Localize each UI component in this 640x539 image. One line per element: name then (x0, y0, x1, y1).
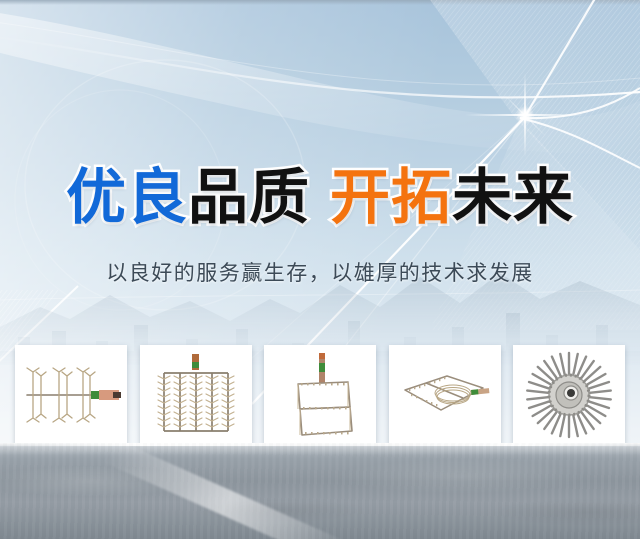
product-card-frame-heating-element[interactable] (264, 345, 376, 445)
product-card-radial-fan-heating-element[interactable] (513, 345, 625, 445)
comb-heating-element-icon (154, 352, 238, 438)
product-card-comb-heating-element[interactable] (140, 345, 252, 445)
headline: 优良品质开拓未来 (0, 163, 640, 233)
headline-part-4: 未来 (452, 163, 574, 233)
headline-part-1: 优良 (66, 163, 188, 233)
headline-part-2: 品质 (188, 163, 310, 233)
ground-texture (0, 443, 640, 539)
product-card-branched-heating-element[interactable] (15, 345, 127, 445)
product-card-strip (15, 345, 625, 445)
radial-fan-heating-element-icon (525, 351, 613, 439)
coil-panel-heating-element-icon (395, 360, 495, 430)
ground-pavement (0, 443, 640, 539)
frame-heating-element-icon (278, 351, 362, 439)
promotional-banner: 优良品质开拓未来 以良好的服务赢生存，以雄厚的技术求发展 (0, 0, 640, 539)
top-edge-band (0, 0, 640, 5)
product-card-coil-panel-heating-element[interactable] (389, 345, 501, 445)
branched-heating-element-icon (19, 356, 123, 434)
subtitle: 以良好的服务赢生存，以雄厚的技术求发展 (0, 258, 640, 288)
headline-part-3: 开拓 (330, 163, 452, 233)
